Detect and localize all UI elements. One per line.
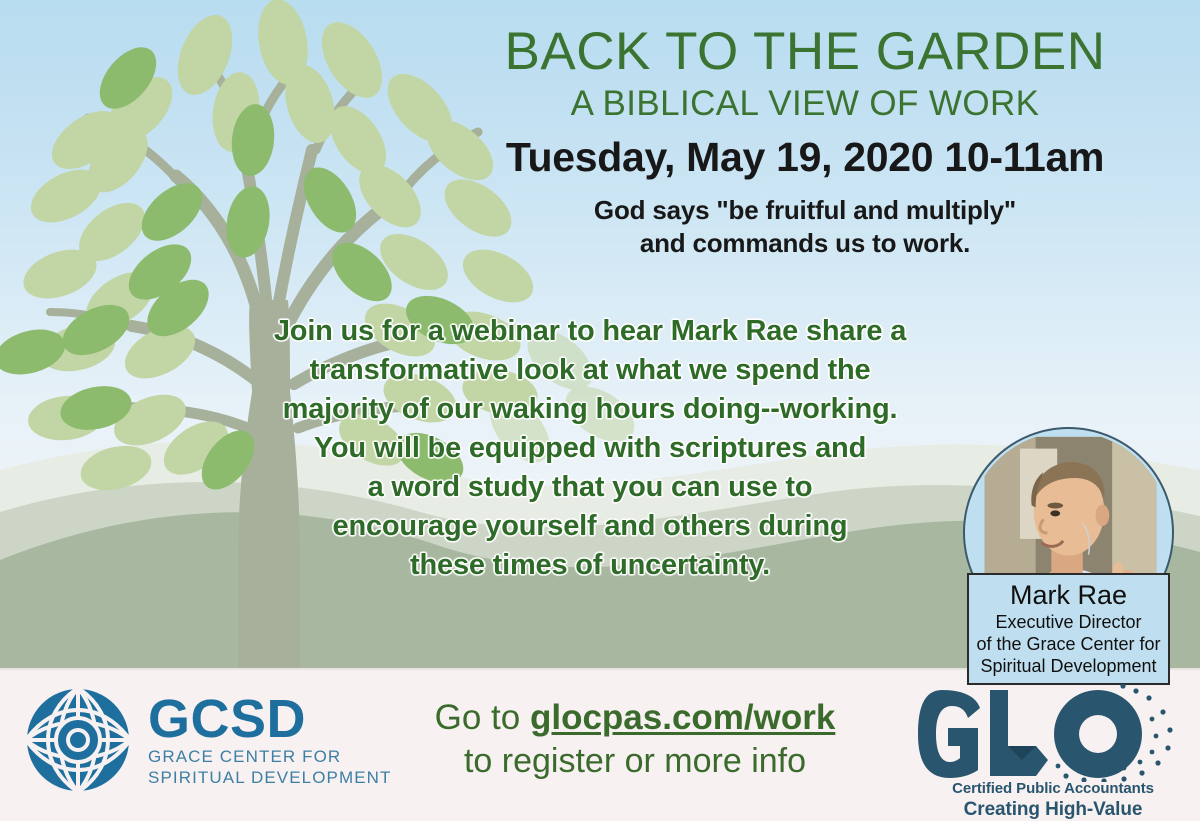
description-line: encourage yourself and others during <box>190 507 990 546</box>
scripture-line-1: God says "be fruitful and multiply" <box>420 194 1190 227</box>
glo-tagline-line-2: Creating High-Value Relationships <box>918 798 1188 821</box>
gcsd-wordmark: GCSD GRACE CENTER FOR SPIRITUAL DEVELOPM… <box>148 692 392 788</box>
glo-logo: Certified Public Accountants Creating Hi… <box>918 684 1188 821</box>
registration-link[interactable]: glocpas.com/work <box>530 698 835 737</box>
headline-block: BACK TO THE GARDEN A BIBLICAL VIEW OF WO… <box>420 22 1190 260</box>
cta-prefix: Go to <box>435 698 530 737</box>
gcsd-globe-icon <box>24 686 132 794</box>
scripture-line-2: and commands us to work. <box>420 227 1190 260</box>
gcsd-tagline-line-1: GRACE CENTER FOR <box>148 746 392 767</box>
speaker-role-line-2: of the Grace Center for <box>973 633 1164 655</box>
page-subtitle: A BIBLICAL VIEW OF WORK <box>420 82 1190 126</box>
glo-tagline-line-1: Certified Public Accountants <box>918 780 1188 798</box>
description-line: You will be equipped with scriptures and <box>190 429 990 468</box>
cta-line-2: to register or more info <box>400 740 870 782</box>
gcsd-logo: GCSD GRACE CENTER FOR SPIRITUAL DEVELOPM… <box>24 686 392 794</box>
event-datetime: Tuesday, May 19, 2020 10-11am <box>420 132 1190 182</box>
page-title: BACK TO THE GARDEN <box>420 22 1190 82</box>
call-to-action: Go to glocpas.com/work to register or mo… <box>400 696 870 782</box>
speaker-name: Mark Rae <box>973 579 1164 611</box>
webinar-flyer: BACK TO THE GARDEN A BIBLICAL VIEW OF WO… <box>0 0 1200 821</box>
description-paragraph: Join us for a webinar to hear Mark Rae s… <box>190 312 990 585</box>
gcsd-acronym: GCSD <box>148 692 392 746</box>
description-line: transformative look at what we spend the <box>190 351 990 390</box>
gcsd-tagline-line-2: SPIRITUAL DEVELOPMENT <box>148 767 392 788</box>
description-line: a word study that you can use to <box>190 468 990 507</box>
description-line: majority of our waking hours doing--work… <box>190 390 990 429</box>
speaker-role-line-1: Executive Director <box>973 611 1164 633</box>
glo-wordmark-icon <box>918 684 1188 782</box>
speaker-block: Mark Rae Executive Director of the Grace… <box>963 427 1178 668</box>
cta-line-1: Go to glocpas.com/work <box>400 696 870 740</box>
description-line: Join us for a webinar to hear Mark Rae s… <box>190 312 990 351</box>
scripture-text: God says "be fruitful and multiply" and … <box>420 194 1190 260</box>
speaker-role-line-3: Spiritual Development <box>973 655 1164 677</box>
speaker-name-card: Mark Rae Executive Director of the Grace… <box>967 573 1170 685</box>
description-line: these times of uncertainty. <box>190 546 990 585</box>
